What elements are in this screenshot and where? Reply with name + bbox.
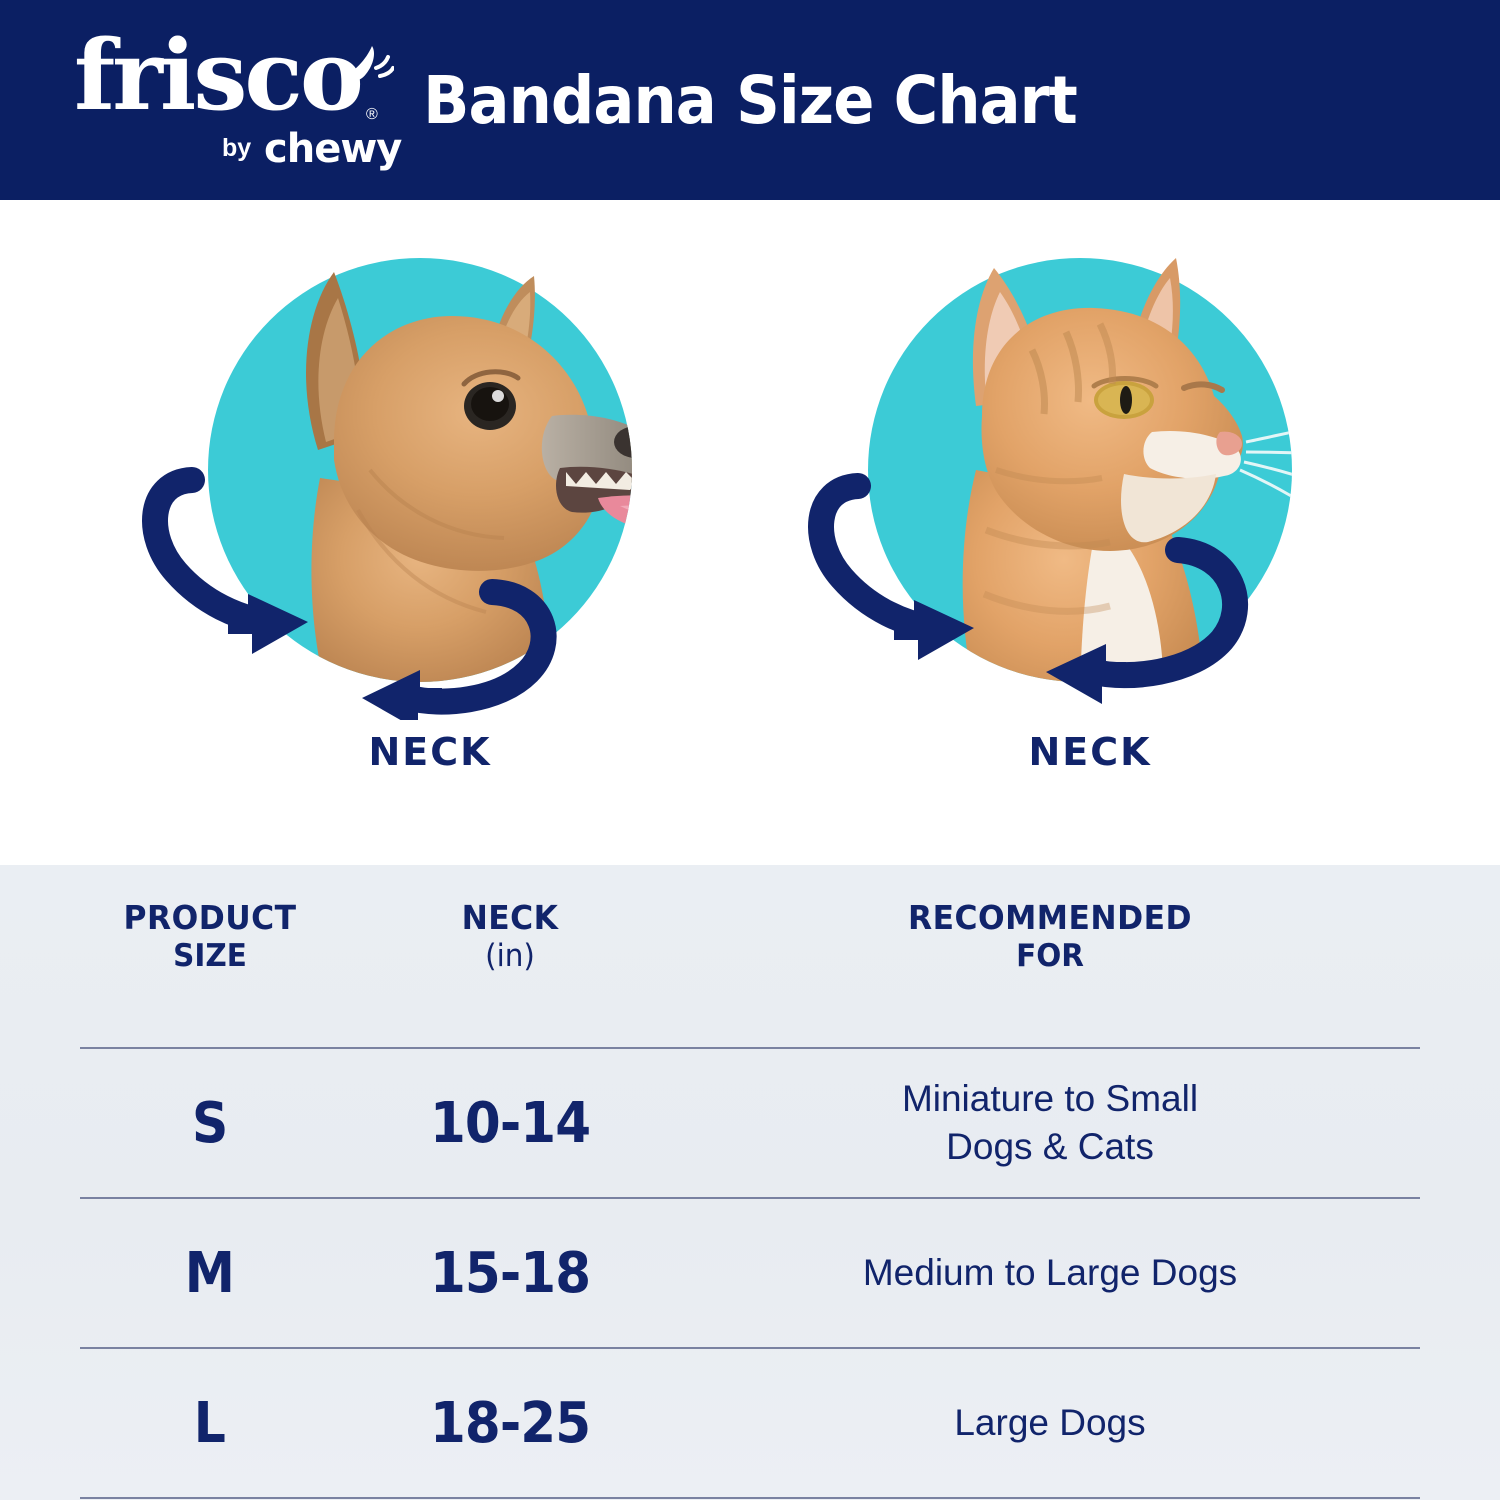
cell-product-size: M (185, 1241, 235, 1306)
cell-neck-range: 10-14 (430, 1091, 590, 1156)
bandana-size-chart-page: frisco ® by chewy Bandana Size Chart (0, 0, 1500, 1500)
dog-neck-illustration: NECK (120, 200, 740, 865)
table-row: M 15-18 Medium to Large Dogs (80, 1199, 1420, 1347)
page-header: frisco ® by chewy Bandana Size Chart (0, 0, 1500, 200)
header-neck-line1: NECK (462, 898, 559, 937)
header-neck-unit: (in) (349, 937, 672, 975)
cat-head-photo (780, 220, 1400, 720)
header-product-size-line1: PRODUCT (124, 898, 297, 937)
cat-neck-label: NECK (780, 730, 1400, 774)
page-title: Bandana Size Chart (60, 0, 1440, 200)
column-header-recommended-for: RECOMMENDED FOR (680, 899, 1420, 975)
header-recommended-line1: RECOMMENDED (908, 898, 1192, 937)
cell-product-size: S (192, 1091, 228, 1156)
column-header-product-size: PRODUCT SIZE (80, 899, 340, 975)
table-row: S 10-14 Miniature to Small Dogs & Cats (80, 1049, 1420, 1197)
cell-product-size: L (194, 1391, 226, 1456)
cell-recommended-line1: Miniature to Small (902, 1078, 1198, 1119)
dog-head-photo (120, 220, 740, 720)
table-row: L 18-25 Large Dogs (80, 1349, 1420, 1497)
table-header-row: PRODUCT SIZE NECK (in) RECOMMENDED FOR (80, 865, 1420, 1047)
cell-neck-range: 15-18 (430, 1241, 590, 1306)
cell-recommended-line1: Large Dogs (954, 1399, 1145, 1447)
table-rule (80, 1497, 1420, 1499)
cat-neck-illustration: NECK (780, 200, 1400, 865)
cell-neck-range: 18-25 (430, 1391, 590, 1456)
size-table-section: PRODUCT SIZE NECK (in) RECOMMENDED FOR (0, 865, 1500, 1500)
cell-recommended-line2: Dogs & Cats (946, 1126, 1154, 1167)
column-header-neck: NECK (in) (340, 899, 680, 975)
cell-recommended-line1: Medium to Large Dogs (863, 1249, 1237, 1297)
illustration-band: NECK (0, 200, 1500, 865)
dog-neck-label: NECK (120, 730, 740, 774)
header-recommended-line2: FOR (699, 937, 1402, 975)
size-table: PRODUCT SIZE NECK (in) RECOMMENDED FOR (80, 865, 1420, 1499)
header-product-size-line2: SIZE (87, 937, 334, 975)
